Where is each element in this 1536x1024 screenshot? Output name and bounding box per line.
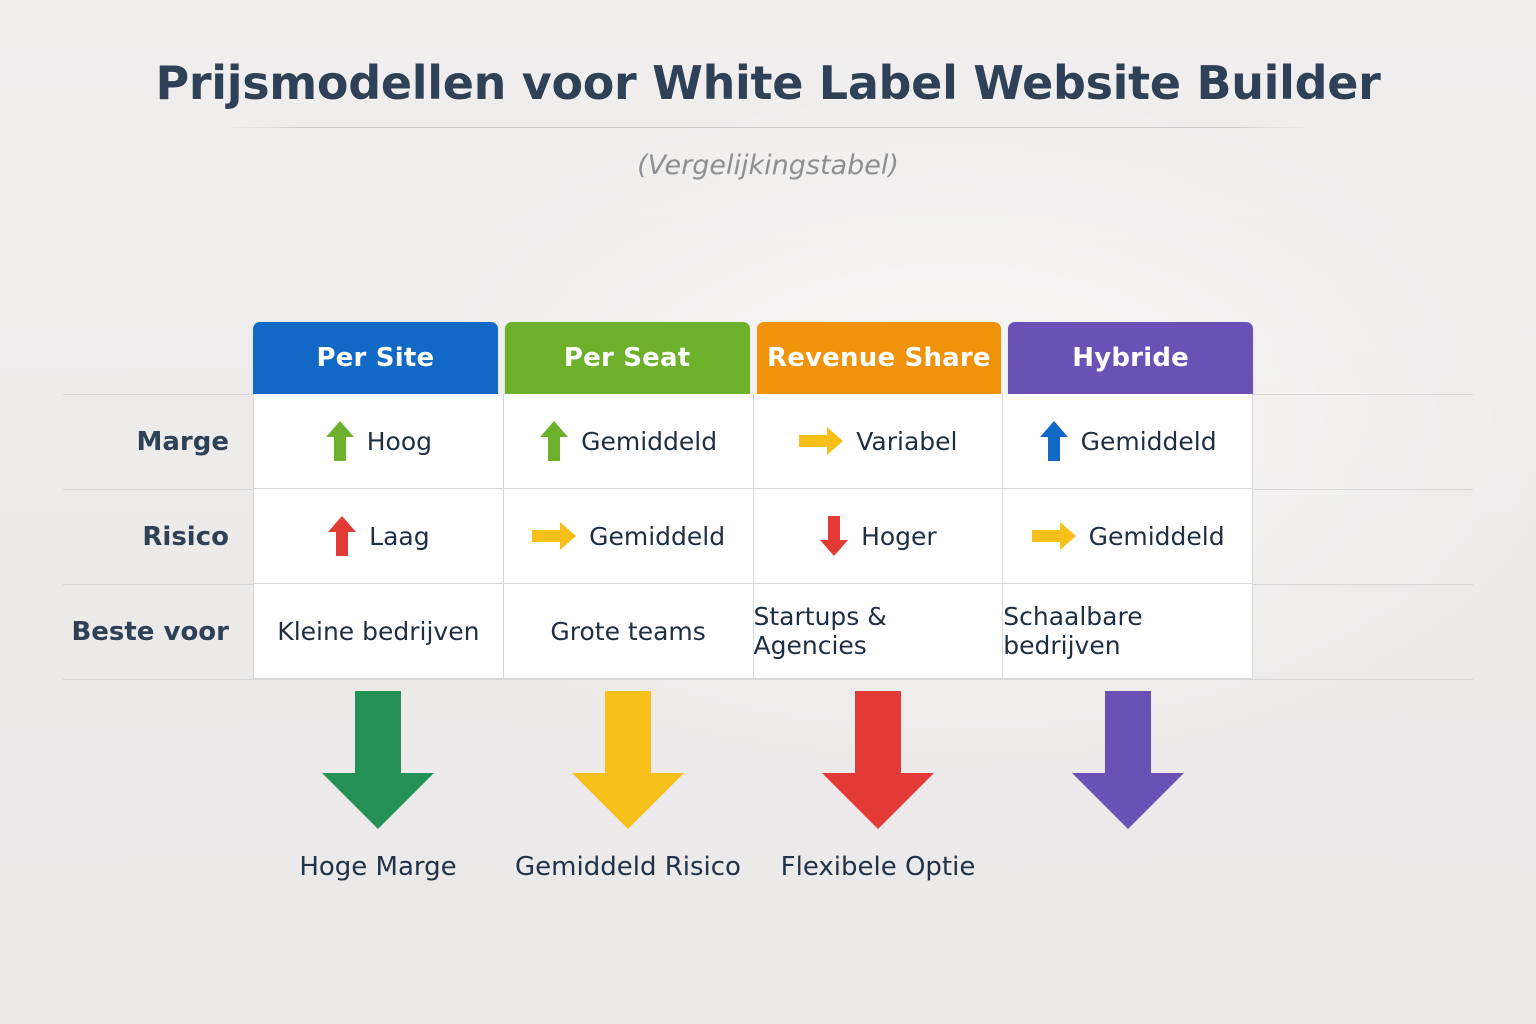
cell-text: Hoger	[861, 522, 937, 551]
callout-hybride	[1003, 690, 1253, 882]
arrow-up-icon	[325, 420, 355, 462]
arrow-down-icon	[819, 515, 849, 557]
page-title: Prijsmodellen voor White Label Website B…	[0, 58, 1536, 109]
cell-marge-hybride: Gemiddeld	[1003, 394, 1253, 489]
cell-text: Hoog	[367, 427, 432, 456]
cell-risico-revenue-share: Hoger	[754, 489, 1004, 584]
arrow-right-icon	[798, 426, 844, 456]
arrow-down-icon	[1071, 690, 1185, 830]
cell-text: Gemiddeld	[581, 427, 717, 456]
callout-caption: Flexibele Optie	[781, 852, 976, 882]
cell-beste-voor-per-seat: Grote teams	[504, 584, 754, 679]
cell-beste-voor-hybride: Schaalbare bedrijven	[1003, 584, 1253, 679]
page-subtitle: (Vergelijkingstabel)	[0, 150, 1536, 181]
cell-beste-voor-revenue-share: Startups & Agencies	[754, 584, 1004, 679]
cell-text: Gemiddeld	[1089, 522, 1225, 551]
row-label-risico: Risico	[63, 489, 241, 584]
title-divider	[223, 127, 1313, 128]
row-label-marge: Marge	[63, 394, 241, 489]
callout-caption: Hoge Marge	[299, 852, 456, 882]
arrow-right-icon	[1031, 521, 1077, 551]
column-header-revenue-share[interactable]: Revenue Share	[757, 322, 1002, 394]
arrow-down-icon	[321, 690, 435, 830]
cell-risico-per-seat: Gemiddeld	[504, 489, 754, 584]
table-row: Hoog Gemiddeld Variabel Gemiddeld	[253, 394, 1253, 489]
callout-gemiddeld-risico: Gemiddeld Risico	[503, 690, 753, 882]
cell-risico-per-site: Laag	[253, 489, 504, 584]
arrow-down-icon	[571, 690, 685, 830]
arrow-up-icon	[327, 515, 357, 557]
cell-text: Schaalbare bedrijven	[1003, 602, 1252, 660]
cell-text: Laag	[369, 522, 429, 551]
cell-marge-per-site: Hoog	[253, 394, 504, 489]
callout-hoge-marge: Hoge Marge	[253, 690, 503, 882]
table-body: Per Site Per Seat Revenue Share Hybride …	[253, 322, 1253, 679]
callout-caption: Gemiddeld Risico	[515, 852, 741, 882]
cell-marge-per-seat: Gemiddeld	[504, 394, 754, 489]
row-divider	[63, 679, 1473, 680]
callout-flexibele-optie: Flexibele Optie	[753, 690, 1003, 882]
header-block: Prijsmodellen voor White Label Website B…	[0, 58, 1536, 181]
table-row: Laag Gemiddeld Hoger Gemiddeld	[253, 489, 1253, 584]
column-header-per-site[interactable]: Per Site	[253, 322, 498, 394]
column-header-hybride[interactable]: Hybride	[1008, 322, 1253, 394]
row-label-beste-voor: Beste voor	[63, 584, 241, 679]
column-header-per-seat[interactable]: Per Seat	[505, 322, 750, 394]
arrow-up-icon	[1039, 420, 1069, 462]
arrow-up-icon	[539, 420, 569, 462]
table-header-row: Per Site Per Seat Revenue Share Hybride	[253, 322, 1253, 394]
cell-marge-revenue-share: Variabel	[754, 394, 1004, 489]
cell-text: Startups & Agencies	[754, 602, 1003, 660]
cell-text: Kleine bedrijven	[277, 617, 479, 646]
callout-arrows: Hoge Marge Gemiddeld Risico Flexibele Op…	[253, 690, 1253, 882]
arrow-right-icon	[531, 521, 577, 551]
cell-text: Grote teams	[550, 617, 705, 646]
cell-beste-voor-per-site: Kleine bedrijven	[253, 584, 504, 679]
cell-risico-hybride: Gemiddeld	[1003, 489, 1253, 584]
cell-text: Variabel	[856, 427, 957, 456]
cell-text: Gemiddeld	[1081, 427, 1217, 456]
arrow-down-icon	[821, 690, 935, 830]
cell-text: Gemiddeld	[589, 522, 725, 551]
table-row: Kleine bedrijven Grote teams Startups & …	[253, 584, 1253, 679]
